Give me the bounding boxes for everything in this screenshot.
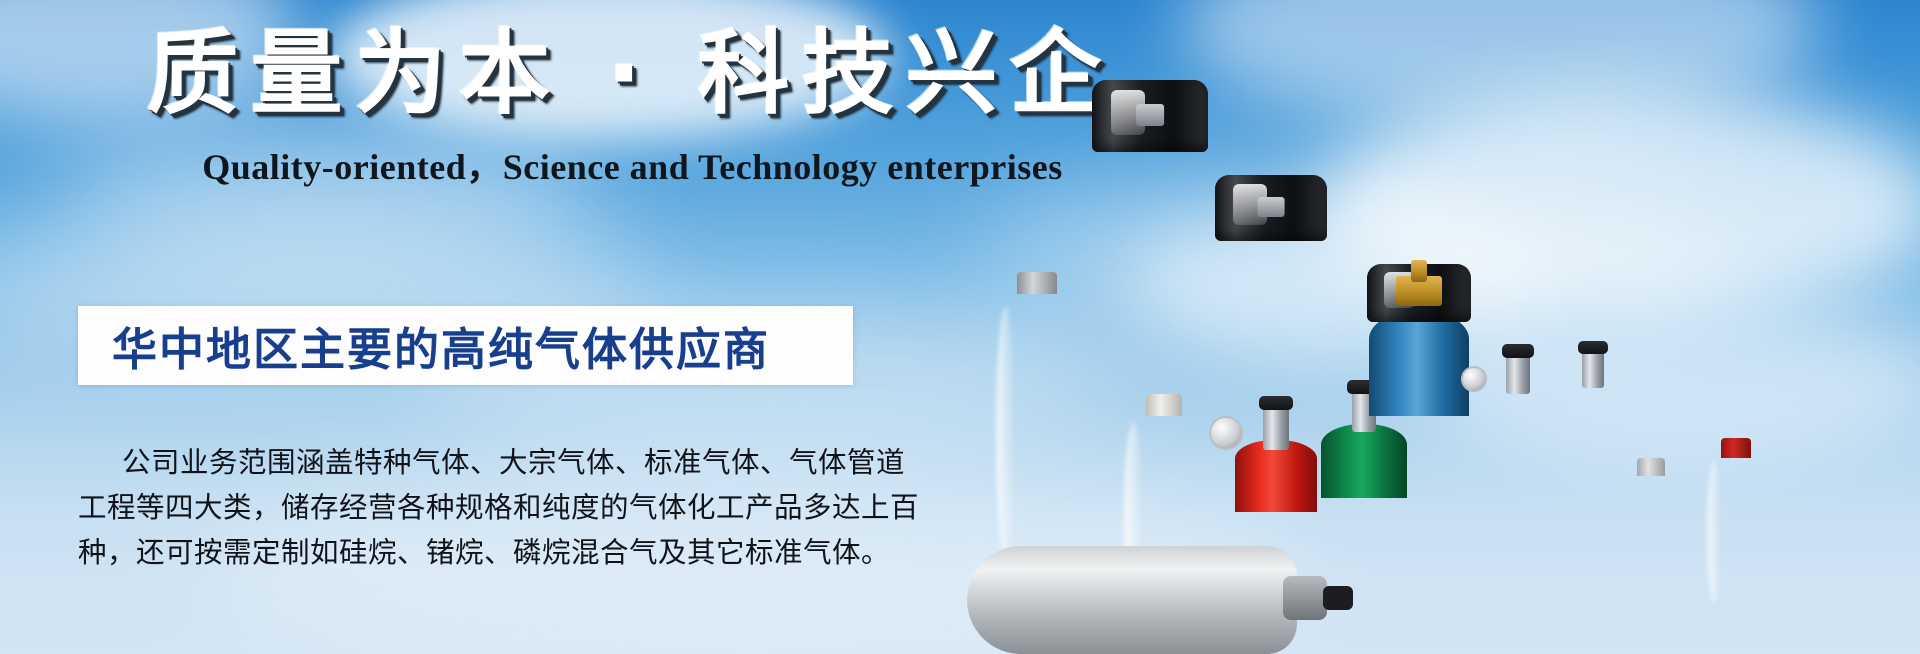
brass-valve-stem-icon [1411, 260, 1427, 282]
description-line: 工程等四大类，储存经营各种规格和纯度的气体化工产品多达上百 [78, 485, 868, 530]
pressure-gauge-icon [1209, 416, 1243, 450]
cylinder-cap-icon [1215, 175, 1327, 241]
blue-silver-cylinder [1369, 316, 1469, 584]
dark-red-cylinder [1693, 450, 1779, 632]
tagline-text: 华中地区主要的高纯气体供应商 [78, 313, 770, 378]
tagline-box: 华中地区主要的高纯气体供应商 [78, 306, 853, 385]
description-paragraph: 公司业务范围涵盖特种气体、大宗气体、标准气体、气体管道 工程等四大类，储存经营各… [78, 440, 868, 575]
small-aluminium-cylinder [1615, 470, 1687, 642]
description-line: 公司业务范围涵盖特种气体、大宗气体、标准气体、气体管道 [78, 440, 868, 485]
description-line: 种，还可按需定制如硅烷、锗烷、磷烷混合气及其它标准气体。 [78, 530, 868, 575]
promo-banner: 质量为本 · 科技兴企 Quality-oriented，Science and… [0, 0, 1920, 654]
blue-slim-cylinder [1479, 386, 1557, 624]
cylinder-cap-icon [1092, 80, 1208, 152]
blue-shoulder [1369, 312, 1469, 416]
gas-cylinders-photo [945, 0, 1920, 654]
red-shoulder [1235, 440, 1317, 512]
pressure-gauge-icon [1461, 366, 1487, 392]
lying-cylinder [967, 546, 1297, 654]
